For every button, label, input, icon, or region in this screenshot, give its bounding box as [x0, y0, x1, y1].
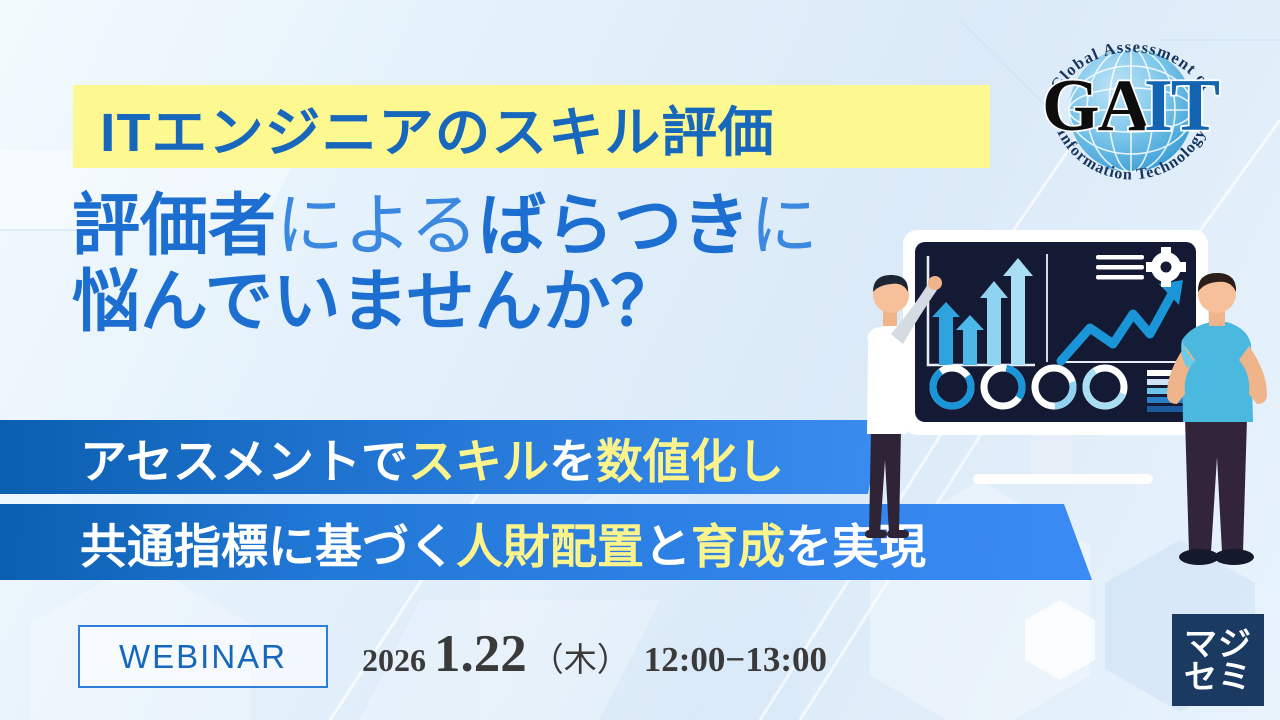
majiseminar-line-2: セミ — [1184, 660, 1252, 693]
hamburger-menu-icon — [1096, 255, 1144, 280]
headline-line-1: 評価者によるばらつきに — [72, 188, 952, 264]
ribbon2-seg4: 育成 — [691, 508, 785, 577]
ribbon1-seg1: アセスメントで — [80, 423, 408, 492]
event-time: 12:00−13:00 — [644, 640, 827, 680]
headline: 評価者によるばらつきに 悩んでいませんか？ — [72, 188, 952, 340]
majiseminar-logo: マジ セミ — [1172, 614, 1264, 706]
gait-wordmark-blue: IT — [1144, 65, 1220, 147]
ribbon1-seg4: 数値化し — [596, 423, 784, 492]
event-datetime: 2026 1.22 （木） 12:00−13:00 — [362, 624, 827, 688]
ribbon2-seg3: と — [644, 508, 691, 577]
headline-emph-3: 悩んでいませんか？ — [72, 264, 679, 340]
headline-plain-2: に — [750, 188, 818, 264]
event-day-of-week: （木） — [531, 633, 630, 681]
ribbon1-seg2: スキル — [408, 423, 549, 492]
ribbon2-seg2: 人財配置 — [456, 508, 644, 577]
webinar-badge: WEBINAR — [78, 625, 328, 688]
majiseminar-line-1: マジ — [1184, 627, 1252, 660]
event-day: 1.22 — [434, 624, 527, 684]
ribbon2-seg1: 共通指標に基づく — [80, 508, 456, 577]
gait-wordmark: GA IT — [1042, 65, 1220, 147]
event-year: 2026 — [362, 642, 426, 679]
benefit-ribbon-1: アセスメントでスキルを数値化し — [0, 420, 882, 494]
gait-logo: Global Assessment of Information Technol… — [1024, 18, 1239, 198]
page-title: ITエンジニアのスキル評価 — [100, 88, 1006, 166]
webinar-badge-label: WEBINAR — [119, 638, 287, 676]
gait-wordmark-dark: GA — [1042, 65, 1151, 147]
headline-line-2: 悩んでいませんか？ — [72, 264, 952, 340]
headline-plain-1: による — [276, 188, 478, 264]
headline-emph-2: ばらつき — [478, 188, 750, 264]
ribbon1-seg3: を — [549, 423, 596, 492]
dashboard-illustration — [855, 222, 1280, 588]
headline-emph-1: 評価者 — [72, 188, 276, 264]
monitor-stand — [973, 427, 1153, 484]
